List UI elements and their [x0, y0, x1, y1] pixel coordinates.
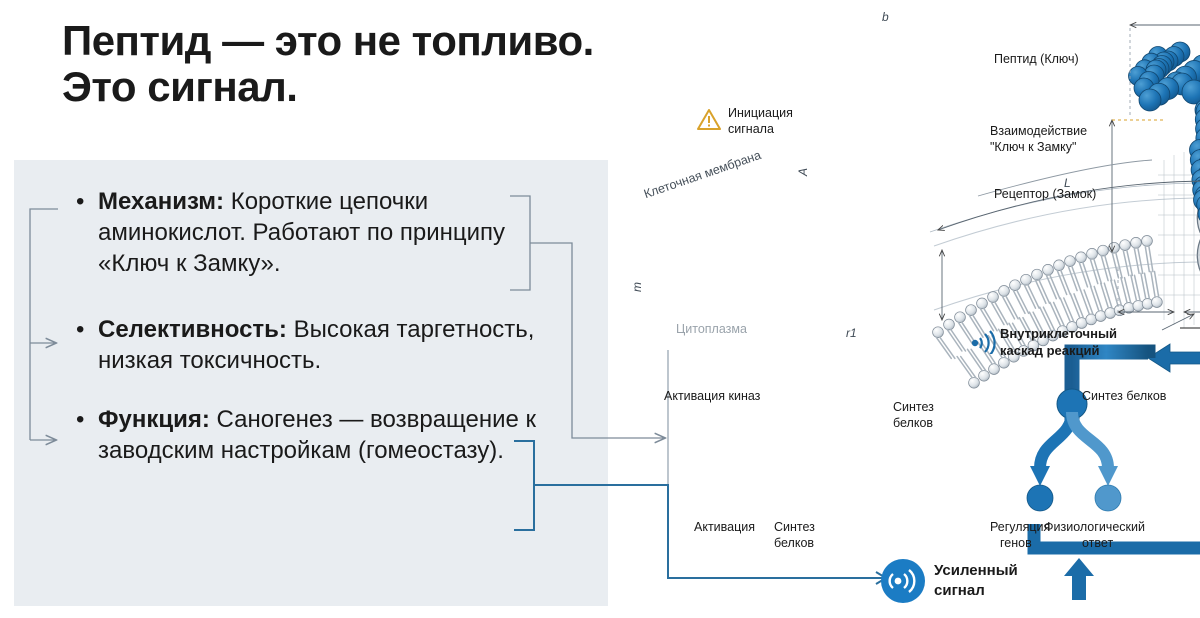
label-peptide: Пептид (Ключ)	[994, 52, 1079, 67]
label-initiation-line1: Инициация	[728, 106, 793, 121]
label-interaction-line1: Взаимодействие	[990, 124, 1087, 139]
label-cascade-line1: Внутриклеточный	[1000, 326, 1117, 341]
label-central-synthesis-line2: белков	[893, 416, 933, 431]
dimension-b: b	[882, 10, 889, 24]
label-amplified-line2: сигнал	[934, 582, 985, 600]
label-amplified-line1: Усиленный	[934, 562, 1018, 580]
amplified-signal-icon	[880, 558, 926, 604]
dimension-L: L	[1064, 176, 1071, 190]
label-leaf-synthesis-line2: белков	[774, 536, 814, 551]
label-leaf-activation: Активация	[694, 520, 755, 535]
label-leaf-physio-line2: ответ	[1082, 536, 1113, 551]
label-central-synthesis-line1: Синтез	[893, 400, 934, 415]
label-cascade-line2: каскад реакций	[1000, 343, 1099, 358]
label-cytoplasm: Цитоплазма	[676, 322, 747, 337]
label-leaf-genes-line2: генов	[1000, 536, 1032, 551]
signal-waves-icon	[970, 330, 996, 354]
up-arrow-icon	[1062, 556, 1096, 602]
peptide-key-molecule	[1129, 42, 1200, 224]
label-initiation-line2: сигнала	[728, 122, 774, 137]
label-leaf-physio-line1: Физиологический	[1044, 520, 1145, 535]
label-receptor: Рецептор (Замок)	[994, 187, 1096, 202]
label-leaf-genes-line1: Регуляция	[990, 520, 1050, 535]
label-right-synthesis: Синтез белков	[1082, 389, 1166, 404]
label-interaction-line2: "Ключ к Замку"	[990, 140, 1076, 155]
label-leaf-synthesis-line1: Синтез	[774, 520, 815, 535]
warning-triangle-icon	[696, 108, 722, 132]
dimension-r1: r1	[846, 326, 857, 340]
label-kinase-activation: Активация киназ	[664, 389, 760, 404]
dimension-m: m	[630, 282, 644, 292]
receptor-signalling-diagram: Пептид (Ключ) Взаимодействие "Ключ к Зам…	[608, 0, 1200, 618]
dimension-A: A	[796, 168, 810, 176]
signal-cascade	[1027, 335, 1200, 575]
